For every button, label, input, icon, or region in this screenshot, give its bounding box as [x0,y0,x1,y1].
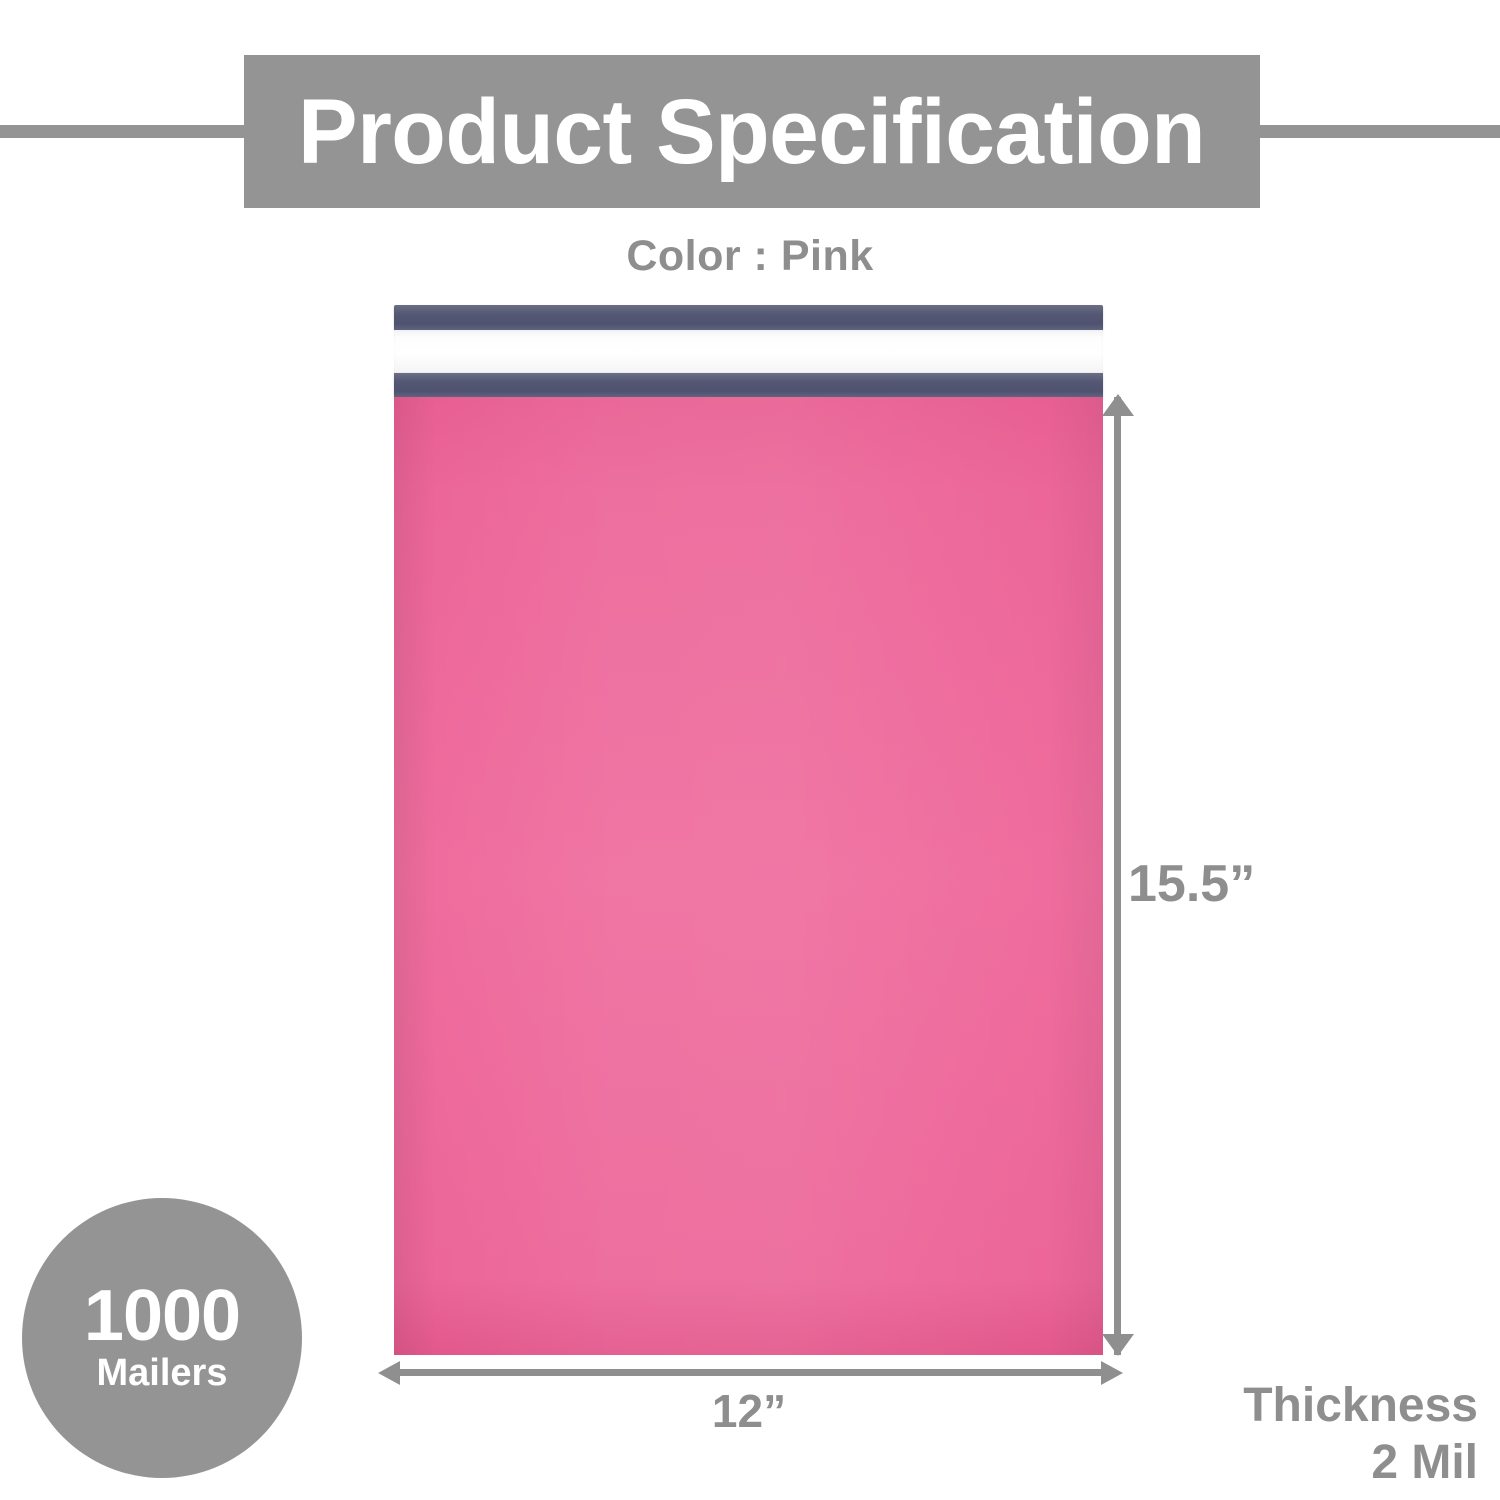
thickness-block: Thickness 2 Mil [1243,1378,1478,1491]
height-dimension-line [1114,397,1121,1355]
quantity-count: 1000 [84,1282,240,1351]
color-spec-label: Color : Pink [0,232,1500,281]
width-arrow-head-right [1101,1361,1123,1385]
width-dimension-line [394,1369,1104,1376]
quantity-badge: 1000 Mailers [22,1198,302,1478]
quantity-unit: Mailers [97,1353,228,1395]
product-specification-card: Product Specification Color : Pink 15.5”… [0,0,1500,1500]
width-dimension-label: 12” [394,1384,1104,1438]
title-banner: Product Specification [244,55,1260,208]
header-rule-right [1258,125,1500,138]
height-dimension-label: 15.5” [1128,854,1255,914]
mailer-adhesive-release-strip [394,330,1103,373]
mailer-flap-lower-bar [394,373,1103,397]
thickness-value: 2 Mil [1243,1435,1478,1492]
thickness-label: Thickness [1243,1378,1478,1435]
mailer-flap-top-bar [394,305,1103,330]
mailer-illustration [394,300,1103,1355]
height-arrow-head-bottom [1102,1334,1134,1356]
mailer-body [394,397,1103,1355]
page-title: Product Specification [298,86,1205,178]
header-rule-left [0,125,244,138]
